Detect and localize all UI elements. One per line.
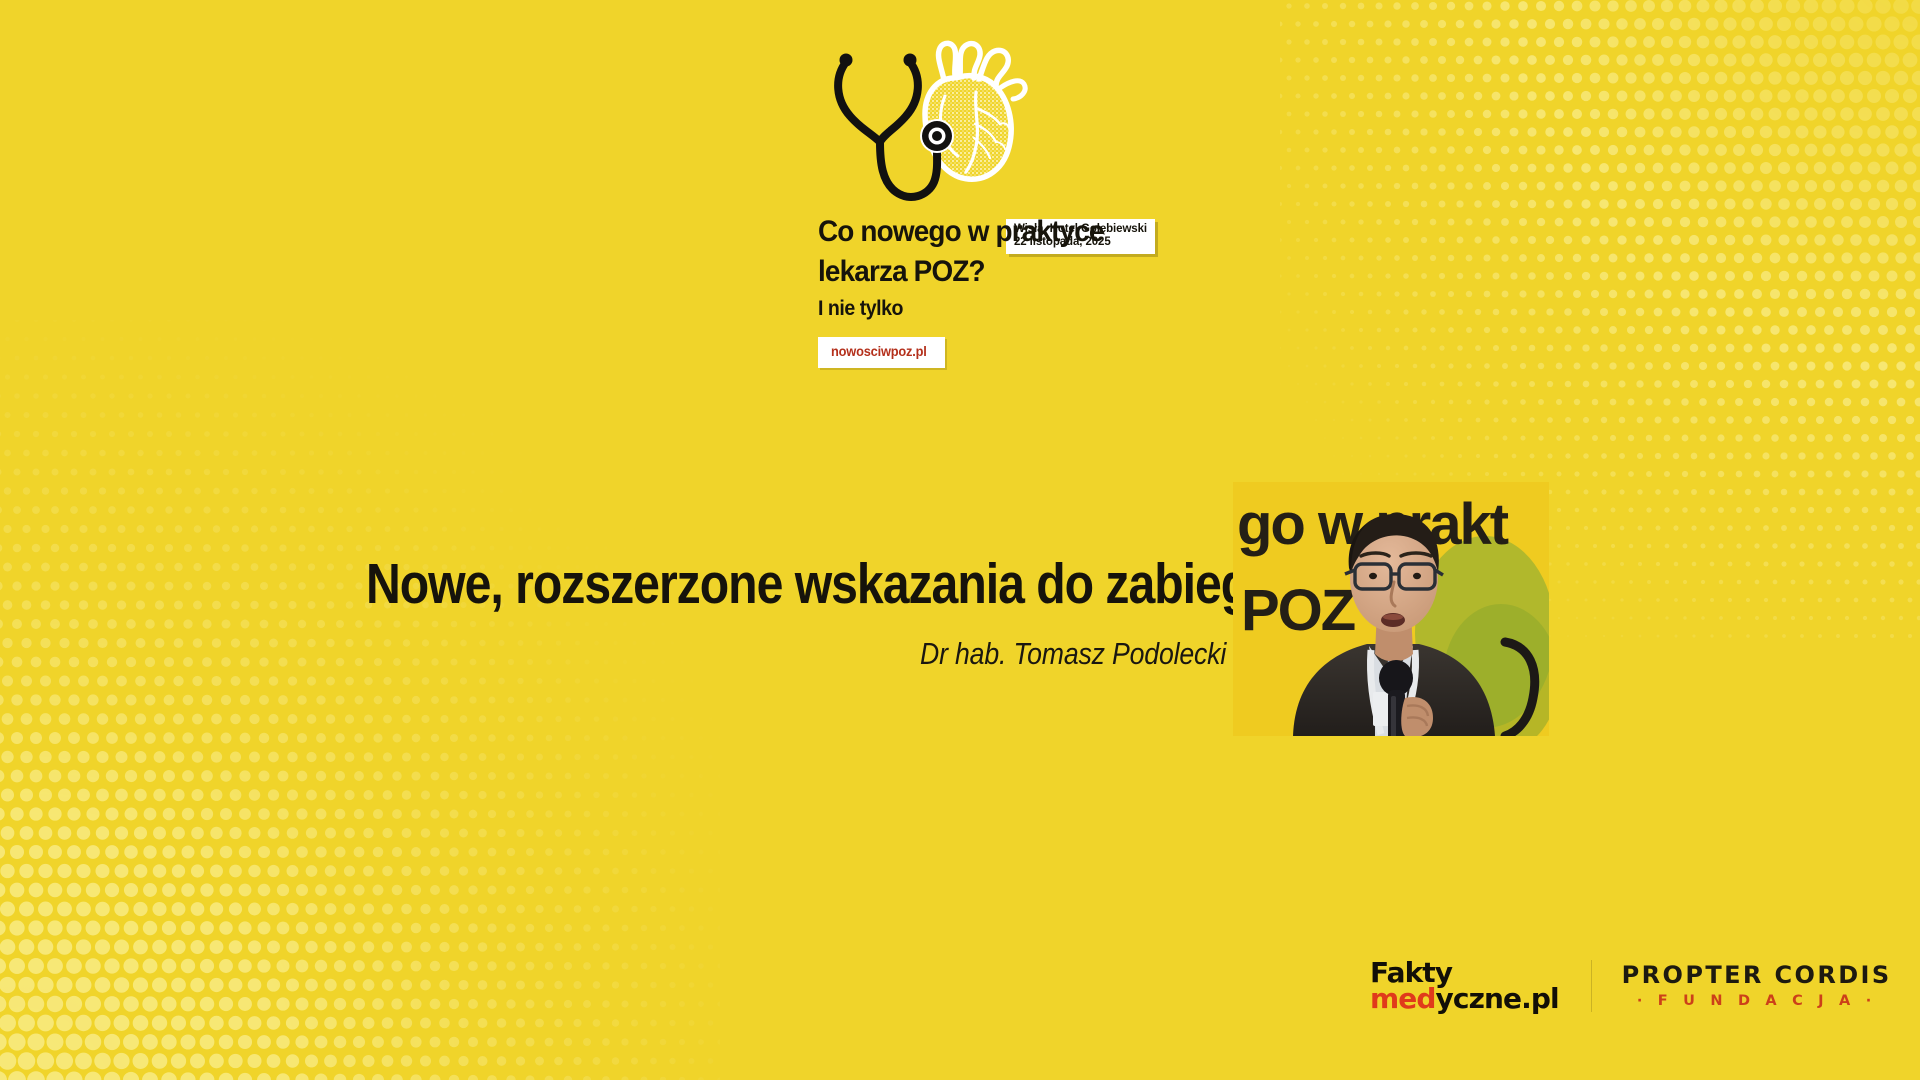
- sponsor-logo-bar: Fakty medyczne.pl PROPTER CORDIS · F U N…: [1370, 960, 1892, 1012]
- svg-text:POZ: POZ: [1241, 578, 1355, 643]
- event-heading: Co nowego w praktyce lekarza POZ? I nie …: [818, 212, 1238, 368]
- event-url-badge[interactable]: nowosciwpoz.pl: [818, 337, 945, 368]
- event-logo-block: Wisła, Hotel Gołębiewski 22 listopada, 2…: [818, 36, 1238, 201]
- event-subtitle: I nie tylko: [818, 295, 1209, 323]
- event-title-line-1: Co nowego w praktyce: [818, 212, 1209, 252]
- propter-cordis-logo[interactable]: PROPTER CORDIS · F U N D A C J A ·: [1618, 963, 1892, 1009]
- talk-title: Nowe, rozszerzone wskazania do zabiegu.: [366, 556, 1290, 613]
- speaker-photo[interactable]: go w prakt POZ: [1233, 482, 1549, 736]
- event-title-line-2: lekarza POZ?: [818, 252, 1209, 292]
- sponsor-divider: [1591, 960, 1592, 1012]
- stethoscope-heart-icon: [824, 36, 1044, 201]
- talk-speaker-name: Dr hab. Tomasz Podolecki: [920, 638, 1226, 669]
- fakty-medyczne-logo[interactable]: Fakty medyczne.pl: [1370, 960, 1565, 1012]
- event-url-label: nowosciwpoz.pl: [831, 344, 927, 359]
- fakty-logo-bottom: medyczne.pl: [1370, 986, 1559, 1012]
- presentation-slide: Wisła, Hotel Gołębiewski 22 listopada, 2…: [0, 0, 1920, 1080]
- fakty-logo-accent: med: [1370, 982, 1436, 1015]
- halftone-pattern-bottom-left: [0, 320, 720, 1080]
- propter-cordis-name: PROPTER CORDIS: [1622, 963, 1892, 987]
- fakty-logo-suffix: yczne.pl: [1436, 982, 1559, 1015]
- propter-cordis-subtitle: · F U N D A C J A ·: [1622, 994, 1892, 1009]
